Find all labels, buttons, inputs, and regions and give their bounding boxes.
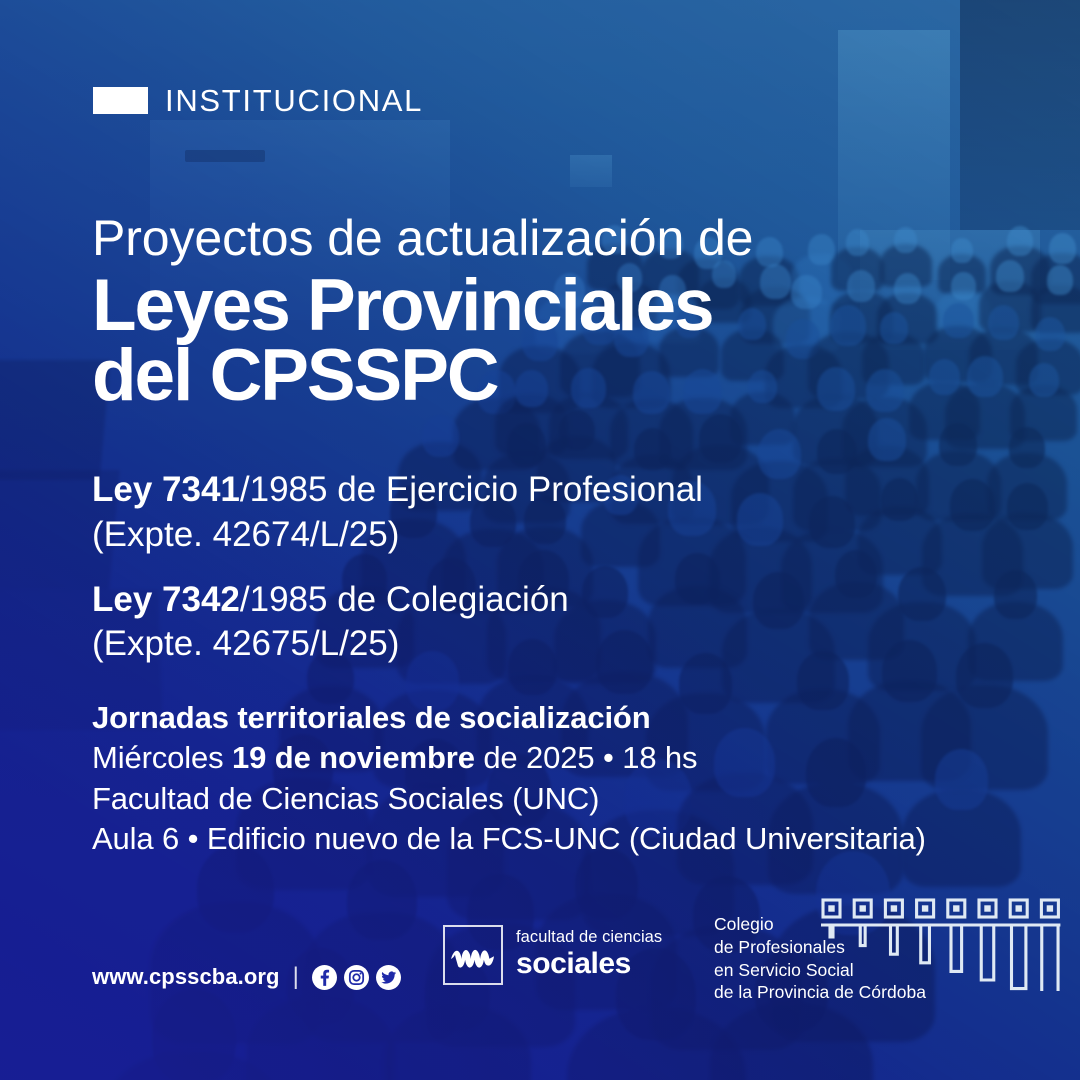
event-date-prefix: Miércoles [92, 740, 232, 775]
law-rest: /1985 de Colegiación [240, 580, 569, 619]
event-title: Jornadas territoriales de socialización [92, 698, 926, 738]
colegio-figures-icon [815, 896, 1080, 991]
colegio-logo: Colegio de Profesionales en Servicio Soc… [714, 913, 926, 1004]
page-title: Proyectos de actualización de Leyes Prov… [92, 212, 753, 414]
headline-line-1: Proyectos de actualización de [92, 212, 753, 264]
event-date-suffix: de 2025 • 18 hs [475, 740, 698, 775]
law-title: Ley 7341/1985 de Ejercicio Profesional [92, 468, 703, 513]
facebook-icon[interactable] [312, 965, 337, 990]
poster-content: INSTITUCIONAL Proyectos de actualización… [0, 0, 1080, 1080]
law-expediente: (Expte. 42674/L/25) [92, 513, 703, 558]
law-rest: /1985 de Ejercicio Profesional [240, 470, 703, 509]
event-details: Jornadas territoriales de socialización … [92, 698, 926, 859]
headline-line-3: del CPSSPC [92, 338, 753, 414]
fcs-logo-line-1: facultad de ciencias [516, 929, 662, 946]
fcs-logo: facultad de ciencias sociales [443, 925, 662, 985]
poster-canvas: INSTITUCIONAL Proyectos de actualización… [0, 0, 1080, 1080]
fcs-wave-monogram-icon [443, 925, 503, 985]
website-url[interactable]: www.cpsscba.org [92, 964, 280, 990]
footer-separator: | [293, 963, 299, 991]
kicker-label: INSTITUCIONAL [165, 85, 423, 116]
law-item: Ley 7341/1985 de Ejercicio Profesional (… [92, 468, 703, 558]
kicker: INSTITUCIONAL [93, 85, 423, 116]
event-room: Aula 6 • Edificio nuevo de la FCS-UNC (C… [92, 819, 926, 859]
kicker-mark-icon [93, 87, 148, 114]
law-number: Ley 7342 [92, 580, 240, 619]
law-expediente: (Expte. 42675/L/25) [92, 622, 703, 667]
social-links [312, 965, 401, 990]
twitter-icon[interactable] [376, 965, 401, 990]
law-number: Ley 7341 [92, 470, 240, 509]
headline-line-2: Leyes Provinciales [92, 268, 753, 344]
fcs-logo-text: facultad de ciencias sociales [516, 929, 662, 981]
fcs-logo-line-2: sociales [516, 949, 662, 979]
law-title: Ley 7342/1985 de Colegiación [92, 578, 703, 623]
footer-website-block: www.cpsscba.org | [92, 963, 401, 991]
instagram-icon[interactable] [344, 965, 369, 990]
event-date-bold: 19 de noviembre [232, 740, 475, 775]
laws-list: Ley 7341/1985 de Ejercicio Profesional (… [92, 468, 703, 667]
event-venue: Facultad de Ciencias Sociales (UNC) [92, 779, 926, 819]
law-item: Ley 7342/1985 de Colegiación (Expte. 426… [92, 578, 703, 668]
event-date: Miércoles 19 de noviembre de 2025 • 18 h… [92, 738, 926, 778]
